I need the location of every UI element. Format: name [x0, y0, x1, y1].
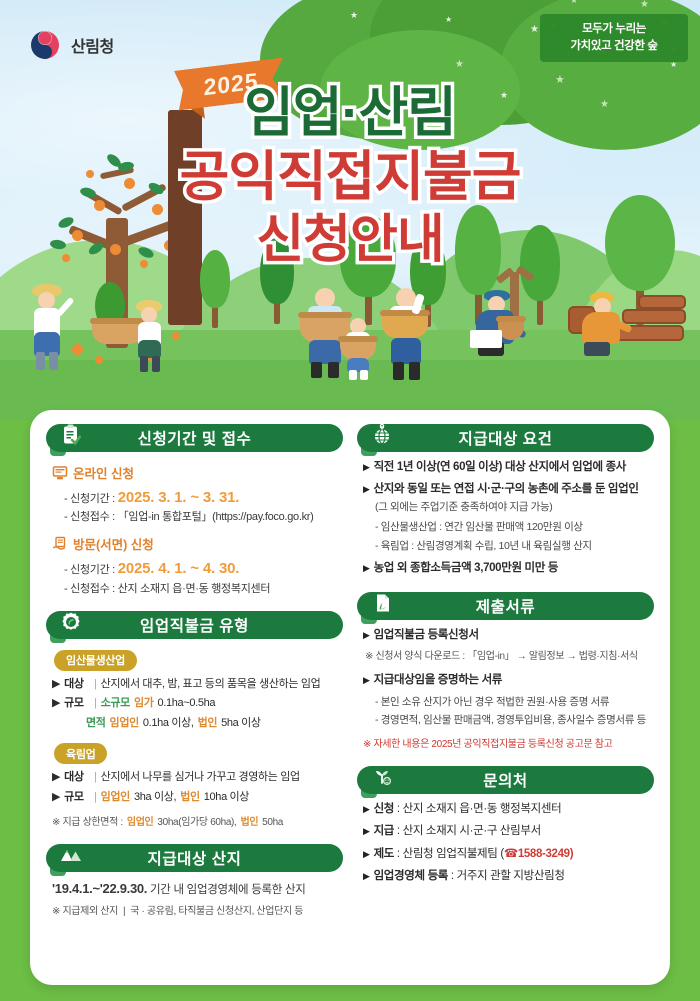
person-with-basket-2 — [378, 288, 434, 380]
type1-target-key: 대상 — [64, 676, 90, 693]
type1-area-orange-1: 임업인 — [110, 715, 139, 732]
target-land-note-bar: | — [123, 904, 125, 919]
eligibility-bullet-1-text: 직전 1년 이상(연 60일 이상) 대상 산지에서 임업에 종사 — [374, 459, 626, 476]
sprout-icon — [367, 762, 397, 792]
telephone-icon: ☎ — [504, 848, 518, 860]
type2-scale-row: ▶ 규모 | 임업인 3ha 이상, 법인 10ha 이상 — [52, 789, 337, 806]
online-receipt-row: - 신청접수 : 「임업-in 통합포털」(https://pay.foco.g… — [52, 509, 337, 526]
type2-scale-plain-2: 10ha 이상 — [204, 789, 249, 806]
section-apply-period: 신청기간 및 접수 온 — [46, 424, 343, 598]
documents-bullet-2: ▶지급대상임을 증명하는 서류 — [363, 672, 648, 689]
subhead-visit-label: 방문(서면) 신청 — [73, 534, 154, 553]
section-header-contact: 문의처 — [357, 766, 654, 794]
documents-bullet-2-text: 지급대상임을 증명하는 서류 — [374, 672, 502, 689]
section-eligibility: 지급대상 요건 ▶직전 1년 이상(연 60일 이상) 대상 산지에서 임업에 … — [357, 424, 654, 577]
white-box — [470, 330, 502, 348]
visit-period-label: - 신청기간 : — [64, 564, 115, 576]
contact-item-system: ▶ 제도 : 산림청 임업직불제팀 (☎1588-3249) — [363, 846, 648, 863]
badge-forest-product: 임산물생산업 — [54, 650, 137, 671]
eligibility-sub-paren: (그 외에는 주업기준 충족하여야 지급 가능) — [363, 500, 648, 516]
type1-scale-orange: 임가 — [134, 695, 154, 712]
section-target-land: 지급대상 산지 '19.4.1.~'22.9.30. 기간 내 임업경영체에 등… — [46, 844, 343, 919]
payment-type-footnote: ※ 지급 상한면적 : 임업인 30ha(임가당 60ha), 법인 50ha — [52, 815, 337, 830]
subhead-online-apply: 온라인 신청 — [52, 463, 337, 482]
contact-item-registration: ▶ 임업경영체 등록 : 거주지 관할 지방산림청 — [363, 868, 648, 885]
section-title-apply-period: 신청기간 및 접수 — [138, 427, 252, 449]
slogan-banner: ★ ★ ★ ★ ★ 모두가 누리는 가치있고 건강한 숲 — [540, 14, 688, 62]
eligibility-bullet-2-text: 산지와 동일 또는 연접 시·군·구의 농촌에 주소를 둔 임업인 — [374, 481, 639, 498]
contact-value-payment: 산지 소재지 시·군·구 산림부서 — [403, 825, 541, 837]
title-line-2: 공익직접지불금 — [0, 150, 700, 204]
type2-scale-orange-2: 법인 — [180, 789, 200, 806]
type1-target-value: 산지에서 대추, 밤, 표고 등의 품목을 생산하는 임업 — [101, 676, 321, 693]
section-header-documents: 제출서류 — [357, 592, 654, 620]
left-column: 신청기간 및 접수 온 — [46, 424, 343, 928]
section-body-documents: ▶임업직불금 등록신청서 ※ 신청서 양식 다운로드 : 「임업-in」 → 알… — [357, 620, 654, 752]
section-header-payment-type: 임업직불금 유형 — [46, 611, 343, 639]
section-body-contact: ▶ 신청 : 산지 소재지 읍·면·동 행정복지센터 ▶ 지급 : 산지 소재지… — [357, 794, 654, 885]
subhead-online-label: 온라인 신청 — [73, 463, 134, 482]
person-child — [128, 300, 174, 372]
online-period-value: 2025. 3. 1. ~ 3. 31. — [118, 489, 240, 506]
section-title-target-land: 지급대상 산지 — [147, 847, 241, 869]
online-period-label: - 신청기간 : — [64, 493, 115, 505]
type2-target-row: ▶ 대상 | 산지에서 나무를 심거나 가꾸고 경영하는 임업 — [52, 769, 337, 786]
agency-logo-block: 산림청 — [28, 28, 114, 62]
gear-leaf-icon — [56, 607, 86, 637]
person-harvesting — [22, 284, 74, 370]
visit-period-value: 2025. 4. 1. ~ 4. 30. — [118, 560, 240, 577]
section-title-payment-type: 임업직불금 유형 — [140, 614, 249, 636]
type1-scale-plain: 0.1ha~0.5ha — [158, 695, 216, 712]
type2-scale-key: 규모 — [64, 789, 90, 806]
contact-item-apply: ▶ 신청 : 산지 소재지 읍·면·동 행정복지센터 — [363, 801, 648, 818]
right-column: 지급대상 요건 ▶직전 1년 이상(연 60일 이상) 대상 산지에서 임업에 … — [357, 424, 654, 928]
documents-note-1: ※ 신청서 양식 다운로드 : 「임업-in」 → 알림정보 → 법령·지침·서… — [365, 649, 648, 664]
documents-red-note: ※ 자세한 내용은 2025년 공익직접지불금 등록신청 공고문 참고 — [363, 737, 648, 752]
type1-target-row: ▶ 대상 | 산지에서 대추, 밤, 표고 등의 품목을 생산하는 임업 — [52, 676, 337, 693]
documents-dash-1: - 본인 소유 산지가 아닌 경우 적법한 권원·사용 증명 서류 — [363, 695, 648, 711]
section-documents: 제출서류 ▶임업직불금 등록신청서 ※ 신청서 양식 다운로드 : 「임업-in… — [357, 592, 654, 752]
footnote-orange-2: 법인 — [240, 815, 258, 830]
documents-bullet-1: ▶임업직불금 등록신청서 — [363, 627, 648, 644]
badge-forest-cultivation: 육림업 — [54, 743, 107, 764]
online-receipt-label: - 신청접수 : — [64, 511, 115, 523]
contact-item-payment: ▶ 지급 : 산지 소재지 시·군·구 산림부서 — [363, 823, 648, 840]
hand-document-icon — [52, 536, 68, 552]
fallen-fruit-3 — [95, 356, 103, 364]
footnote-orange-1: 임업인 — [127, 815, 154, 830]
contact-value-registration: 거주지 관할 지방산림청 — [457, 870, 565, 882]
section-header-target-land: 지급대상 산지 — [46, 844, 343, 872]
target-land-date-range: '19.4.1.~'22.9.30. — [52, 881, 147, 896]
poster-title-block: 2025 임업·산림 공익직접지불금 신청안내 — [0, 58, 700, 283]
contact-phone-number[interactable]: 1588-3249 — [518, 848, 570, 860]
footnote-mid: 30ha(임가당 60ha), — [157, 815, 236, 830]
contact-key-payment: 지급 — [374, 825, 394, 837]
globe-icon — [367, 420, 397, 450]
agency-name: 산림청 — [71, 33, 114, 57]
target-land-note-value: 국 · 공유림, 타직불금 신청산지, 산업단지 등 — [130, 904, 303, 919]
type1-area-orange-2: 법인 — [198, 715, 218, 732]
section-header-eligibility: 지급대상 요건 — [357, 424, 654, 452]
section-body-target-land: '19.4.1.~'22.9.30. 기간 내 임업경영체에 등록한 산지 ※ … — [46, 872, 343, 919]
eligibility-bullet-2: ▶산지와 동일 또는 연접 시·군·구의 농촌에 주소를 둔 임업인 — [363, 481, 648, 498]
type1-scale-key: 규모 — [64, 695, 90, 712]
type1-scale-row: ▶ 규모 | 소규모 임가 0.1ha~0.5ha — [52, 695, 337, 712]
korea-government-taeguk-logo-icon — [28, 28, 62, 62]
eligibility-dash-2: - 육림업 : 산림경영계획 수립, 10년 내 육림실행 산지 — [363, 539, 648, 555]
section-contact: 문의처 ▶ 신청 : 산지 소재지 읍·면·동 행정복지센터 ▶ 지급 : 산지… — [357, 766, 654, 885]
eligibility-bullet-3: ▶농업 외 종합소득금액 3,700만원 미만 등 — [363, 560, 648, 577]
slogan-line-2: 가치있고 건강한 숲 — [540, 38, 688, 55]
type2-target-key: 대상 — [64, 769, 90, 786]
visit-period-row: - 신청기간 : 2025. 4. 1. ~ 4. 30. — [52, 557, 337, 580]
documents-dash-2: - 경영면적, 임산물 판매금액, 경영투입비용, 종사일수 증명서류 등 — [363, 713, 648, 729]
visit-receipt-row: - 신청접수 : 산지 소재지 읍·면·동 행정복지센터 — [52, 581, 337, 598]
eligibility-dash-1: - 임산물생산업 : 연간 임산물 판매액 120만원 이상 — [363, 520, 648, 536]
eligibility-bullet-1: ▶직전 1년 이상(연 60일 이상) 대상 산지에서 임업에 종사 — [363, 459, 648, 476]
type2-scale-orange-1: 임업인 — [101, 789, 130, 806]
content-card: 신청기간 및 접수 온 — [30, 410, 670, 985]
contact-value-system: 산림청 임업직불제팀 ( — [403, 848, 504, 860]
subhead-visit-apply: 방문(서면) 신청 — [52, 534, 337, 553]
person-logging — [578, 292, 636, 366]
section-body-apply-period: 온라인 신청 - 신청기간 : 2025. 3. 1. ~ 3. 31. - 신… — [46, 452, 343, 598]
type1-area-row: 면적 임업인 0.1ha 이상, 법인 5ha 이상 — [52, 715, 337, 732]
documents-bullet-1-text: 임업직불금 등록신청서 — [374, 627, 479, 644]
eligibility-bullet-3-text: 농업 외 종합소득금액 3,700만원 미만 등 — [374, 560, 558, 577]
section-body-payment-type: 임산물생산업 ▶ 대상 | 산지에서 대추, 밤, 표고 등의 품목을 생산하는… — [46, 639, 343, 831]
section-title-contact: 문의처 — [483, 769, 528, 791]
visit-receipt-label: - 신청접수 : — [64, 583, 115, 595]
target-land-main-rest: 기간 내 임업경영체에 등록한 산지 — [150, 884, 306, 896]
section-header-apply-period: 신청기간 및 접수 — [46, 424, 343, 452]
clipboard-check-icon — [56, 420, 86, 450]
type1-area-label: 면적 — [86, 715, 106, 732]
type2-target-value: 산지에서 나무를 심거나 가꾸고 경영하는 임업 — [101, 769, 300, 786]
section-title-eligibility: 지급대상 요건 — [458, 427, 552, 449]
type1-area-value-2: 5ha 이상 — [221, 715, 261, 732]
section-title-documents: 제출서류 — [476, 595, 535, 617]
contact-phone-paren: ) — [570, 848, 573, 860]
contact-key-apply: 신청 — [374, 803, 394, 815]
mountain-icon — [56, 840, 86, 870]
person-child-basket — [338, 318, 378, 380]
title-line-3: 신청안내 — [0, 214, 700, 266]
target-land-main: '19.4.1.~'22.9.30. 기간 내 임업경영체에 등록한 산지 — [52, 879, 337, 900]
poster-root: ★ ★ ★ ★ ★ ★ ★ ★ ★ ★ ★ ★ ★ ★ ★ ★ ★ ★ ★ ★ — [0, 0, 700, 1001]
section-body-eligibility: ▶직전 1년 이상(연 60일 이상) 대상 산지에서 임업에 종사 ▶산지와 … — [357, 452, 654, 577]
target-land-note-prefix: ※ 지급제외 산지 — [52, 904, 118, 919]
type2-scale-plain-1: 3ha 이상, — [134, 789, 176, 806]
target-land-note: ※ 지급제외 산지 | 국 · 공유림, 타직불금 신청산지, 산업단지 등 — [52, 904, 337, 919]
visit-receipt-value: 산지 소재지 읍·면·동 행정복지센터 — [118, 583, 270, 595]
computer-icon — [52, 465, 68, 481]
contact-key-system: 제도 — [374, 848, 394, 860]
title-line-1: 임업·산림 — [0, 86, 700, 140]
online-receipt-value[interactable]: 「임업-in 통합포털」(https://pay.foco.go.kr) — [118, 511, 314, 523]
type1-scale-green: 소규모 — [101, 695, 130, 712]
footnote-end: 50ha — [262, 815, 283, 830]
slogan-line-1: 모두가 누리는 — [540, 21, 688, 38]
document-pen-icon — [367, 588, 397, 618]
contact-value-apply: 산지 소재지 읍·면·동 행정복지센터 — [403, 803, 562, 815]
online-period-row: - 신청기간 : 2025. 3. 1. ~ 3. 31. — [52, 486, 337, 509]
contact-key-registration: 임업경영체 등록 — [374, 870, 448, 882]
type1-area-value-1: 0.1ha 이상, — [143, 715, 194, 732]
section-payment-type: 임업직불금 유형 임산물생산업 ▶ 대상 | 산지에서 대추, 밤, 표고 등의… — [46, 611, 343, 831]
footnote-prefix: ※ 지급 상한면적 : — [52, 815, 123, 830]
